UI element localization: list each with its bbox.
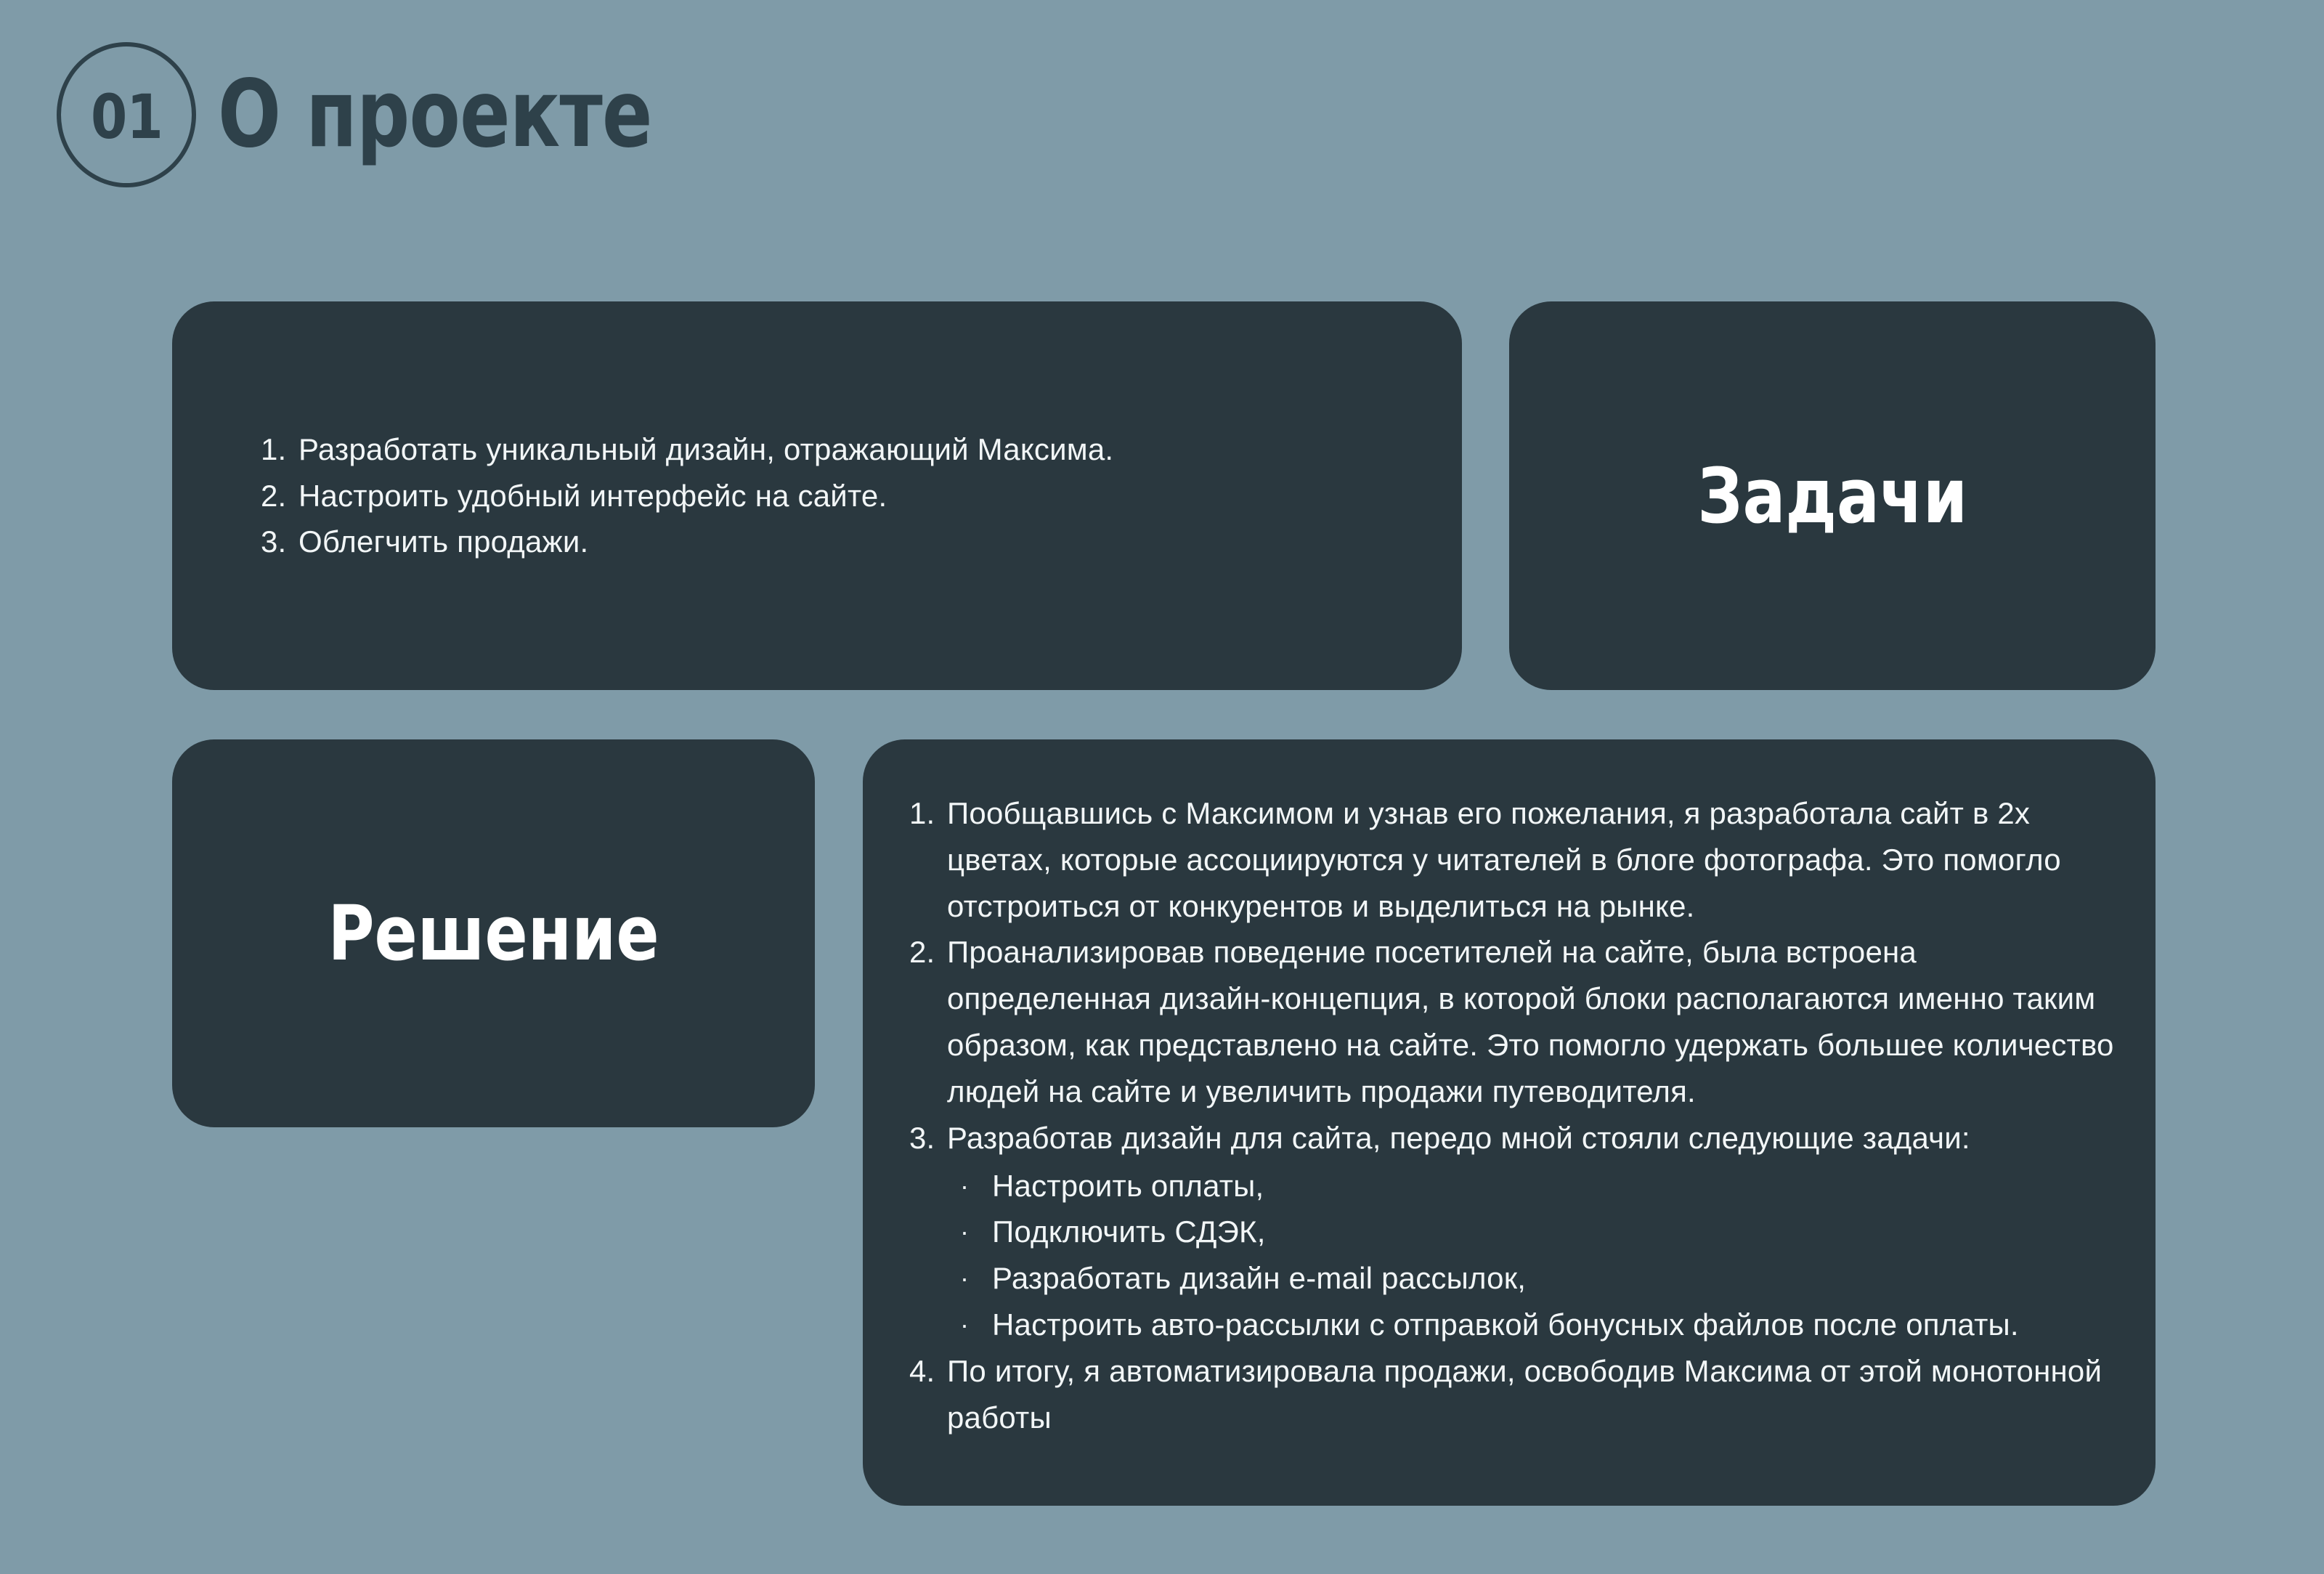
- list-item: · Разработать дизайн e-mail рассылок,: [960, 1255, 2121, 1302]
- solution-title-card: Решение: [172, 739, 815, 1127]
- list-item: · Настроить авто-рассылки с отправкой бо…: [960, 1302, 2121, 1348]
- list-item: 2. Настроить удобный интерфейс на сайте.: [261, 473, 1113, 519]
- list-item-marker: 3.: [909, 1115, 947, 1161]
- solution-sub-list: · Настроить оплаты, · Подключить СДЭК, ·…: [909, 1163, 2121, 1348]
- list-item: 2. Проанализировав поведение посетителей…: [909, 929, 2121, 1114]
- page-title: О проекте: [218, 68, 652, 161]
- list-item-marker: 1.: [909, 790, 947, 837]
- bullet-icon: ·: [960, 1163, 992, 1209]
- list-item-text: Проанализировав поведение посетителей на…: [947, 929, 2121, 1114]
- list-item-marker: 4.: [909, 1348, 947, 1395]
- list-item: · Подключить СДЭК,: [960, 1209, 2121, 1255]
- tasks-list: 1. Разработать уникальный дизайн, отража…: [261, 426, 1113, 565]
- slide-header: 01 О проекте: [57, 42, 760, 187]
- tasks-heading: Задачи: [1697, 458, 1967, 534]
- list-item: 3. Разработав дизайн для сайта, передо м…: [909, 1115, 2121, 1161]
- list-item-text: Настроить оплаты,: [992, 1163, 2121, 1209]
- list-item: 1. Разработать уникальный дизайн, отража…: [261, 426, 1113, 473]
- slide-canvas: 01 О проекте 1. Разработать уникальный д…: [0, 0, 2324, 1574]
- list-item-marker: 3.: [261, 519, 298, 565]
- section-number: 01: [91, 86, 163, 147]
- solution-body-card: 1. Пообщавшись с Максимом и узнав его по…: [863, 739, 2156, 1506]
- list-item-text: Подключить СДЭК,: [992, 1209, 2121, 1255]
- list-item-text: Настроить удобный интерфейс на сайте.: [298, 473, 1113, 519]
- tasks-title-card: Задачи: [1509, 301, 2156, 690]
- list-item-text: Пообщавшись с Максимом и узнав его пожел…: [947, 790, 2121, 929]
- section-number-badge: 01: [57, 42, 196, 187]
- bullet-icon: ·: [960, 1255, 992, 1302]
- list-item-text: Разработать уникальный дизайн, отражающи…: [298, 426, 1113, 473]
- list-item-text: Облегчить продажи.: [298, 519, 1113, 565]
- solution-heading: Решение: [328, 896, 659, 971]
- list-item-marker: 2.: [909, 929, 947, 975]
- list-item-text: По итогу, я автоматизировала продажи, ос…: [947, 1348, 2121, 1441]
- bullet-icon: ·: [960, 1209, 992, 1255]
- sub-list-wrapper: · Настроить оплаты, · Подключить СДЭК, ·…: [909, 1163, 2121, 1348]
- list-item: · Настроить оплаты,: [960, 1163, 2121, 1209]
- solution-list: 1. Пообщавшись с Максимом и узнав его по…: [909, 790, 2121, 1441]
- list-item: 3. Облегчить продажи.: [261, 519, 1113, 565]
- list-item: 4. По итогу, я автоматизировала продажи,…: [909, 1348, 2121, 1441]
- list-item-marker: 2.: [261, 473, 298, 519]
- bullet-icon: ·: [960, 1302, 992, 1348]
- list-item-marker: 1.: [261, 426, 298, 473]
- tasks-list-card: 1. Разработать уникальный дизайн, отража…: [172, 301, 1462, 690]
- list-item: 1. Пообщавшись с Максимом и узнав его по…: [909, 790, 2121, 929]
- list-item-text: Разработать дизайн e-mail рассылок,: [992, 1255, 2121, 1302]
- list-item-text: Настроить авто-рассылки с отправкой бону…: [992, 1302, 2121, 1348]
- list-item-text: Разработав дизайн для сайта, передо мной…: [947, 1115, 2121, 1161]
